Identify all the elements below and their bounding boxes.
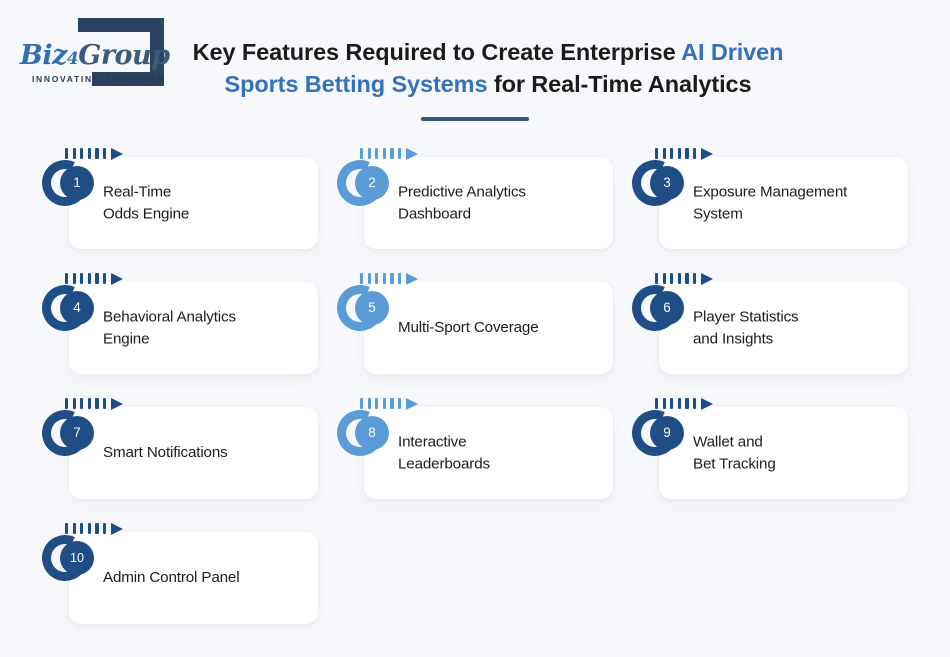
feature-label: Multi-Sport Coverage bbox=[398, 317, 613, 339]
arrow-dash-segment bbox=[368, 148, 371, 159]
logo-text-group: Group bbox=[78, 40, 169, 71]
arrow-head-icon bbox=[111, 398, 123, 410]
arrow-dash-segment bbox=[88, 398, 91, 409]
arrow-dash-segment bbox=[383, 148, 386, 159]
dashed-arrow-icon bbox=[360, 273, 418, 285]
step-badge-icon: 7 bbox=[38, 396, 124, 458]
arrow-dash-segment bbox=[88, 273, 91, 284]
step-badge-icon: 10 bbox=[38, 521, 124, 583]
arrow-head-icon bbox=[111, 273, 123, 285]
title-segment-2: for Real-Time Analytics bbox=[487, 71, 751, 97]
arrow-dash-segment bbox=[103, 148, 106, 159]
dashed-arrow-icon bbox=[360, 148, 418, 160]
feature-label: Smart Notifications bbox=[103, 442, 318, 464]
step-number: 9 bbox=[650, 416, 684, 450]
dashed-arrow-icon bbox=[360, 398, 418, 410]
feature-label: Behavioral AnalyticsEngine bbox=[103, 306, 318, 349]
feature-grid: Real-TimeOdds Engine1Predictive Analytic… bbox=[38, 146, 918, 645]
dashed-arrow-icon bbox=[65, 148, 123, 160]
feature-cell: Real-TimeOdds Engine1 bbox=[38, 146, 318, 270]
arrow-dash-segment bbox=[670, 148, 673, 159]
page-title: Key Features Required to Create Enterpri… bbox=[178, 36, 798, 101]
logo-wordmark: Biz4Group bbox=[20, 40, 170, 71]
arrow-dash-segment bbox=[65, 398, 68, 409]
step-number: 5 bbox=[355, 291, 389, 325]
arrow-dash-segment bbox=[80, 398, 83, 409]
arrow-dash-segment bbox=[693, 273, 696, 284]
dashed-arrow-icon bbox=[65, 523, 123, 535]
arrow-dash-segment bbox=[685, 273, 688, 284]
dashed-arrow-icon bbox=[655, 398, 713, 410]
feature-cell: Multi-Sport Coverage5 bbox=[333, 271, 613, 395]
arrow-dash-segment bbox=[693, 398, 696, 409]
step-badge-icon: 5 bbox=[333, 271, 419, 333]
step-badge-icon: 1 bbox=[38, 146, 124, 208]
title-underline-rule bbox=[421, 117, 529, 121]
arrow-dash-segment bbox=[368, 398, 371, 409]
feature-cell: Smart Notifications7 bbox=[38, 396, 318, 520]
arrow-dash-segment bbox=[73, 398, 76, 409]
step-number: 3 bbox=[650, 166, 684, 200]
arrow-dash-segment bbox=[678, 398, 681, 409]
arrow-dash-segment bbox=[95, 148, 98, 159]
dashed-arrow-icon bbox=[65, 273, 123, 285]
step-number: 6 bbox=[650, 291, 684, 325]
arrow-dash-segment bbox=[398, 273, 401, 284]
step-number: 4 bbox=[60, 291, 94, 325]
step-number: 2 bbox=[355, 166, 389, 200]
feature-cell: Player Statisticsand Insights6 bbox=[628, 271, 908, 395]
arrow-dash-segment bbox=[95, 398, 98, 409]
dashed-arrow-icon bbox=[65, 398, 123, 410]
dashed-arrow-icon bbox=[655, 148, 713, 160]
arrow-dash-segment bbox=[88, 523, 91, 534]
step-number: 10 bbox=[60, 541, 94, 575]
arrow-dash-segment bbox=[65, 148, 68, 159]
step-badge-icon: 8 bbox=[333, 396, 419, 458]
arrow-dash-segment bbox=[73, 148, 76, 159]
feature-cell: Predictive AnalyticsDashboard2 bbox=[333, 146, 613, 270]
step-badge-icon: 6 bbox=[628, 271, 714, 333]
arrow-head-icon bbox=[406, 273, 418, 285]
arrow-dash-segment bbox=[663, 148, 666, 159]
arrow-dash-segment bbox=[383, 398, 386, 409]
feature-cell: InteractiveLeaderboards8 bbox=[333, 396, 613, 520]
arrow-head-icon bbox=[701, 398, 713, 410]
feature-label: Wallet andBet Tracking bbox=[693, 431, 908, 474]
arrow-dash-segment bbox=[398, 398, 401, 409]
arrow-dash-segment bbox=[103, 398, 106, 409]
feature-label: Real-TimeOdds Engine bbox=[103, 181, 318, 224]
feature-cell: Exposure ManagementSystem3 bbox=[628, 146, 908, 270]
arrow-head-icon bbox=[111, 523, 123, 535]
arrow-dash-segment bbox=[360, 398, 363, 409]
arrow-dash-segment bbox=[663, 398, 666, 409]
arrow-dash-segment bbox=[80, 273, 83, 284]
arrow-dash-segment bbox=[678, 148, 681, 159]
arrow-dash-segment bbox=[95, 273, 98, 284]
arrow-dash-segment bbox=[383, 273, 386, 284]
brand-logo: Biz4Group INNOVATING TOGETHER bbox=[14, 18, 174, 94]
step-badge-icon: 2 bbox=[333, 146, 419, 208]
arrow-head-icon bbox=[111, 148, 123, 160]
arrow-dash-segment bbox=[65, 273, 68, 284]
arrow-dash-segment bbox=[103, 523, 106, 534]
arrow-dash-segment bbox=[80, 523, 83, 534]
arrow-dash-segment bbox=[375, 148, 378, 159]
arrow-dash-segment bbox=[360, 148, 363, 159]
arrow-dash-segment bbox=[95, 523, 98, 534]
step-number: 7 bbox=[60, 416, 94, 450]
arrow-dash-segment bbox=[655, 273, 658, 284]
feature-cell: Admin Control Panel10 bbox=[38, 521, 318, 645]
arrow-dash-segment bbox=[73, 523, 76, 534]
arrow-dash-segment bbox=[360, 273, 363, 284]
step-badge-icon: 3 bbox=[628, 146, 714, 208]
arrow-dash-segment bbox=[65, 523, 68, 534]
arrow-dash-segment bbox=[678, 273, 681, 284]
feature-label: Admin Control Panel bbox=[103, 567, 318, 589]
arrow-dash-segment bbox=[103, 273, 106, 284]
arrow-head-icon bbox=[701, 273, 713, 285]
arrow-dash-segment bbox=[655, 398, 658, 409]
arrow-dash-segment bbox=[390, 398, 393, 409]
feature-label: Predictive AnalyticsDashboard bbox=[398, 181, 613, 224]
feature-cell: Behavioral AnalyticsEngine4 bbox=[38, 271, 318, 395]
arrow-dash-segment bbox=[685, 398, 688, 409]
arrow-dash-segment bbox=[390, 148, 393, 159]
arrow-dash-segment bbox=[670, 273, 673, 284]
arrow-dash-segment bbox=[398, 148, 401, 159]
arrow-dash-segment bbox=[655, 148, 658, 159]
arrow-dash-segment bbox=[80, 148, 83, 159]
arrow-dash-segment bbox=[73, 273, 76, 284]
arrow-dash-segment bbox=[663, 273, 666, 284]
feature-cell: Wallet andBet Tracking9 bbox=[628, 396, 908, 520]
arrow-head-icon bbox=[701, 148, 713, 160]
dashed-arrow-icon bbox=[655, 273, 713, 285]
feature-label: Player Statisticsand Insights bbox=[693, 306, 908, 349]
arrow-head-icon bbox=[406, 148, 418, 160]
arrow-head-icon bbox=[406, 398, 418, 410]
logo-tagline: INNOVATING TOGETHER bbox=[32, 74, 166, 84]
arrow-dash-segment bbox=[88, 148, 91, 159]
logo-text-four: 4 bbox=[67, 49, 78, 69]
logo-text-biz: Biz bbox=[20, 40, 67, 71]
feature-label: InteractiveLeaderboards bbox=[398, 431, 613, 474]
arrow-dash-segment bbox=[375, 273, 378, 284]
feature-label: Exposure ManagementSystem bbox=[693, 181, 908, 224]
arrow-dash-segment bbox=[670, 398, 673, 409]
infographic-page: Biz4Group INNOVATING TOGETHER Key Featur… bbox=[0, 0, 950, 657]
arrow-dash-segment bbox=[390, 273, 393, 284]
step-number: 1 bbox=[60, 166, 94, 200]
arrow-dash-segment bbox=[375, 398, 378, 409]
step-badge-icon: 9 bbox=[628, 396, 714, 458]
arrow-dash-segment bbox=[685, 148, 688, 159]
title-segment-1: Key Features Required to Create Enterpri… bbox=[193, 39, 682, 65]
step-number: 8 bbox=[355, 416, 389, 450]
arrow-dash-segment bbox=[693, 148, 696, 159]
step-badge-icon: 4 bbox=[38, 271, 124, 333]
arrow-dash-segment bbox=[368, 273, 371, 284]
